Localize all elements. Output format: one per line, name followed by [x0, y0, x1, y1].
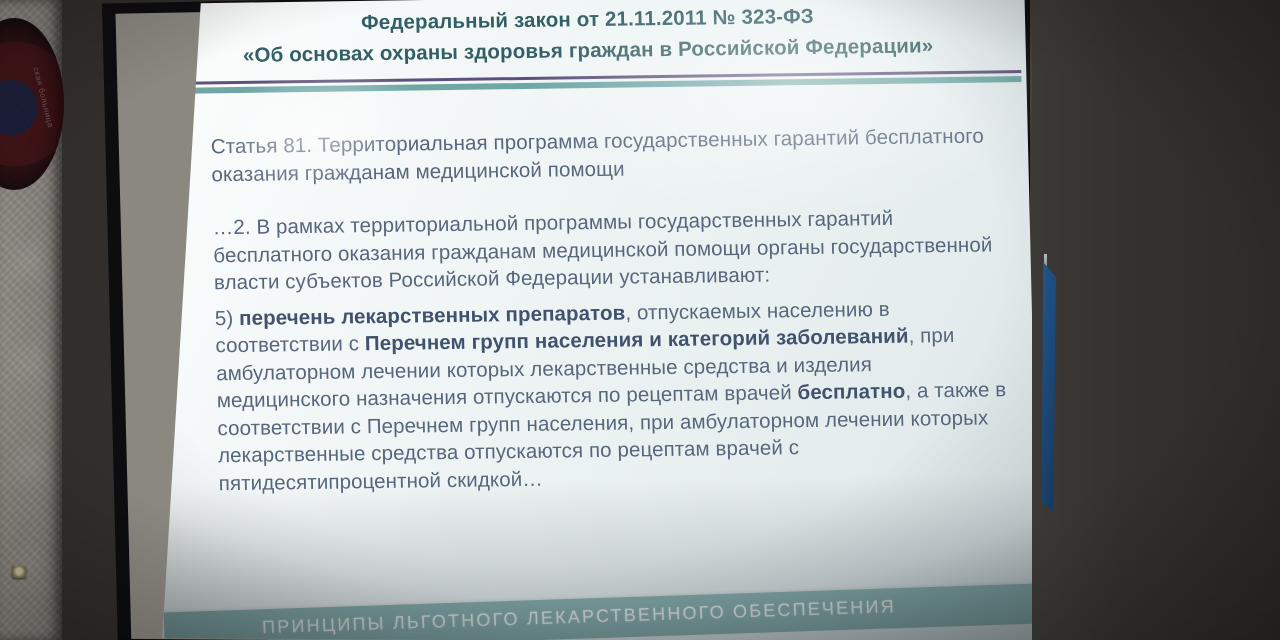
bold-phrase-free: бесплатно [797, 380, 905, 404]
slide-footer-label: ПРИНЦИПЫ ЛЬГОТНОГО ЛЕКАРСТВЕННОГО ОБЕСПЕ… [262, 596, 897, 638]
photographed-room-scene: ская больница Федеральный закон от 21.11… [0, 0, 1280, 640]
hospital-emblem-label: ская больница [0, 66, 57, 156]
projector-glare-top [529, 0, 1032, 221]
wall-fixture-screw [12, 566, 26, 578]
bold-phrase-medicine-list: перечень лекарственных препаратов [239, 301, 626, 329]
list-item-5: 5) перечень лекарственных препаратов, от… [215, 294, 1009, 497]
projected-slide: Федеральный закон от 21.11.2011 № 323-ФЗ… [157, 0, 1032, 640]
slide-canvas: Федеральный закон от 21.11.2011 № 323-ФЗ… [157, 0, 1032, 640]
dark-wall-right [1020, 0, 1280, 640]
slide-footer-band: ПРИНЦИПЫ ЛЬГОТНОГО ЛЕКАРСТВЕННОГО ОБЕСПЕ… [157, 583, 1032, 640]
bold-phrase-population-groups: Перечнем групп населения и категорий заб… [365, 325, 909, 356]
list-marker: 5) [215, 306, 240, 329]
